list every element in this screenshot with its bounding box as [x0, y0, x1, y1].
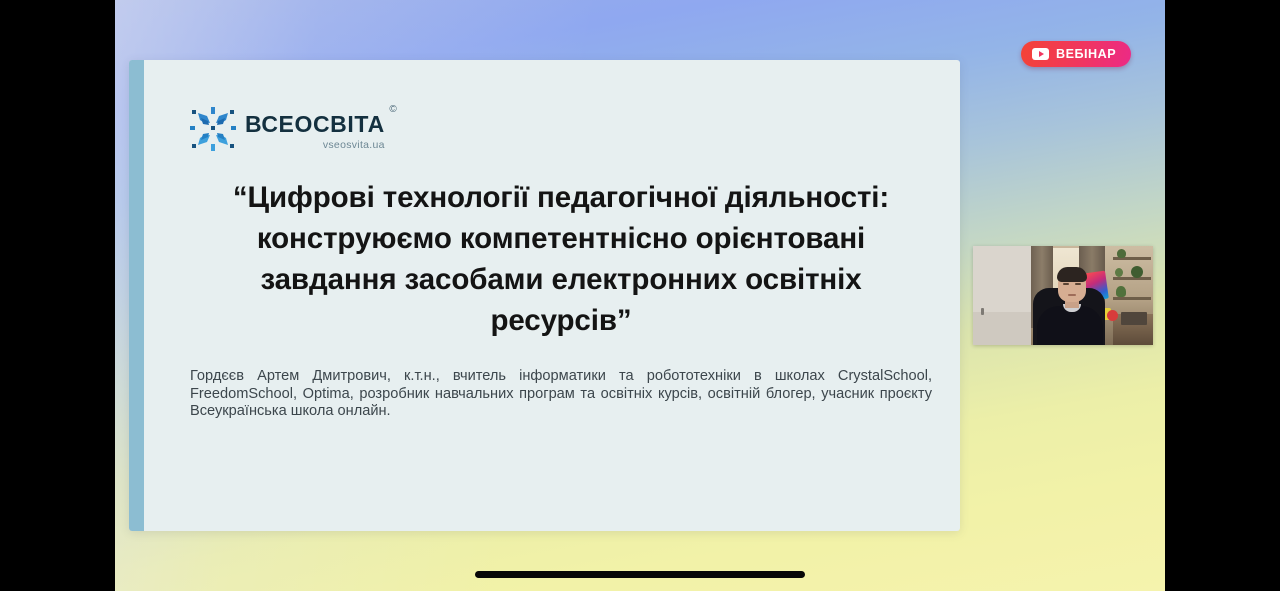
webcam-wall-lower	[973, 312, 1031, 345]
webcam-shelf	[1113, 297, 1151, 300]
playback-progress-bar[interactable]	[475, 571, 805, 578]
webcam-door-handle	[981, 308, 984, 315]
vseosvita-logo: ВСЕОСВІТА © vseosvita.ua	[190, 105, 385, 153]
webcam-desk-object	[1107, 310, 1118, 321]
slide-accent-bar	[129, 60, 144, 531]
presentation-stream-stage: ВСЕОСВІТА © vseosvita.ua “Цифрові технол…	[0, 0, 1280, 591]
webcam-person-hair	[1057, 267, 1087, 282]
slide-presenter-bio: Гордєєв Артем Дмитрович, к.т.н., вчитель…	[190, 368, 932, 421]
webcam-person-eye	[1063, 283, 1069, 285]
webinar-badge[interactable]: ВЕБІНАР	[1021, 41, 1131, 67]
vseosvita-snowflake-icon	[190, 105, 236, 153]
presenter-webcam[interactable]	[973, 246, 1153, 345]
logo-wordmark: ВСЕОСВІТА	[245, 113, 385, 136]
webinar-badge-label: ВЕБІНАР	[1056, 48, 1116, 61]
registered-mark-icon: ©	[389, 105, 396, 115]
slide-card: ВСЕОСВІТА © vseosvita.ua “Цифрові технол…	[129, 60, 960, 531]
webcam-person-mouth	[1068, 294, 1076, 296]
webcam-plant	[1116, 286, 1126, 297]
webcam-plant	[1131, 266, 1143, 278]
webcam-shelf	[1113, 277, 1151, 280]
video-area[interactable]: ВСЕОСВІТА © vseosvita.ua “Цифрові технол…	[115, 0, 1165, 591]
webcam-plant	[1115, 268, 1123, 277]
youtube-play-icon	[1032, 48, 1049, 60]
webcam-plant	[1117, 249, 1126, 258]
slide-title: “Цифрові технології педагогічної діяльно…	[190, 177, 932, 341]
webcam-person-eye	[1075, 283, 1081, 285]
logo-text-block: ВСЕОСВІТА © vseosvita.ua	[245, 105, 385, 151]
webcam-laptop	[1121, 312, 1147, 325]
logo-subtitle: vseosvita.ua	[245, 140, 385, 151]
letterbox-right	[1165, 0, 1280, 591]
slide-content: ВСЕОСВІТА © vseosvita.ua “Цифрові технол…	[190, 60, 932, 531]
letterbox-left	[0, 0, 115, 591]
